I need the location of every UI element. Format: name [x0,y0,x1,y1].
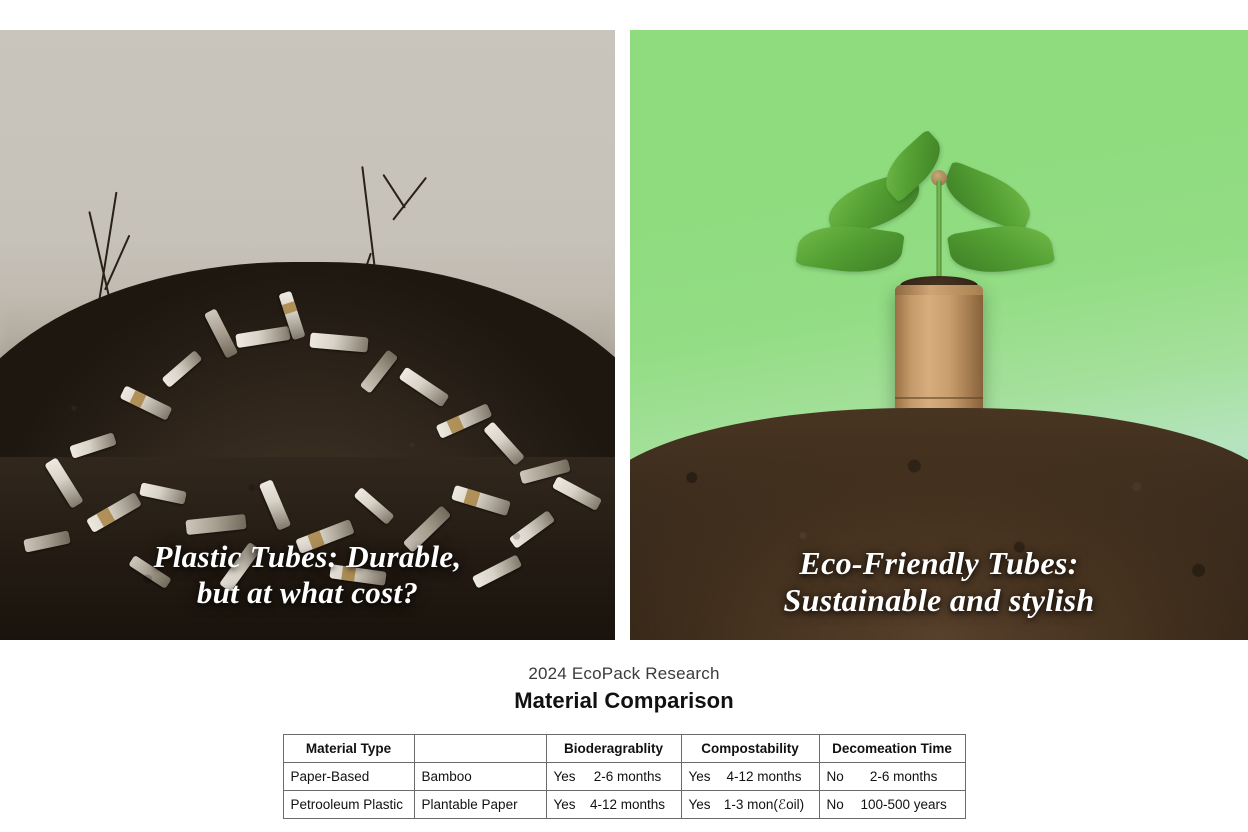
decomposition-time: 100-500 years [850,797,958,812]
cell-biodegradability: Yes 4-12 months [546,791,681,819]
page-title: Material Comparison [514,688,734,714]
caption-eco-friendly-tubes: Eco-Friendly Tubes: Sustainable and styl… [630,545,1248,618]
cell-compostability: Yes 4-12 months [681,763,819,791]
caption-line-2: but at what cost? [16,575,599,610]
biodegradability-flag: Yes [554,797,576,812]
column-header-material-name [414,735,546,763]
panel-plastic-tubes: Plastic Tubes: Durable, but at what cost… [0,30,615,640]
poster-canvas: Plastic Tubes: Durable, but at what cost… [0,0,1248,832]
caption-line-1: Plastic Tubes: Durable, [16,539,599,574]
decomposition-flag: No [827,769,844,784]
cell-material-type: Paper-Based [283,763,414,791]
cell-compostability: Yes 1-3 mon(ℰoil) [681,791,819,819]
seedling-stem [937,180,942,285]
column-header-compostability: Compostability [681,735,819,763]
biodegradability-time: 4-12 months [582,797,674,812]
biodegradability-time: 2-6 months [582,769,674,784]
cell-biodegradability: Yes 2-6 months [546,763,681,791]
cell-material-type: Petrooleum Plastic [283,791,414,819]
cell-material-name: Plantable Paper [414,791,546,819]
panel-eco-friendly-tubes: Eco-Friendly Tubes: Sustainable and styl… [630,30,1248,640]
material-comparison-table: Material Type Bioderagrablity Compostabi… [283,734,966,819]
tube-seam [895,397,983,399]
compostability-flag: Yes [689,769,711,784]
decomposition-flag: No [827,797,844,812]
table-row: Petrooleum Plastic Plantable Paper Yes 4… [283,791,965,819]
comparison-section: 2024 EcoPack Research Material Compariso… [0,640,1248,832]
table-row: Paper-Based Bamboo Yes 2-6 months Yes 4-… [283,763,965,791]
section-eyebrow: 2024 EcoPack Research [528,664,719,684]
compostability-flag: Yes [689,797,711,812]
column-header-decomposition-time: Decomeation Time [819,735,965,763]
biodegradability-flag: Yes [554,769,576,784]
compostability-time: 1-3 mon(ℰoil) [717,797,812,813]
cell-decomposition: No 2-6 months [819,763,965,791]
column-header-material-type: Material Type [283,735,414,763]
compostability-time: 4-12 months [717,769,812,784]
cell-decomposition: No 100-500 years [819,791,965,819]
caption-line-1: Eco-Friendly Tubes: [646,545,1232,581]
caption-line-2: Sustainable and stylish [646,582,1232,618]
caption-plastic-tubes: Plastic Tubes: Durable, but at what cost… [0,539,615,610]
cell-material-name: Bamboo [414,763,546,791]
decomposition-time: 2-6 months [850,769,958,784]
table-header-row: Material Type Bioderagrablity Compostabi… [283,735,965,763]
column-header-biodegradability: Bioderagrablity [546,735,681,763]
tube-lip [895,285,983,295]
